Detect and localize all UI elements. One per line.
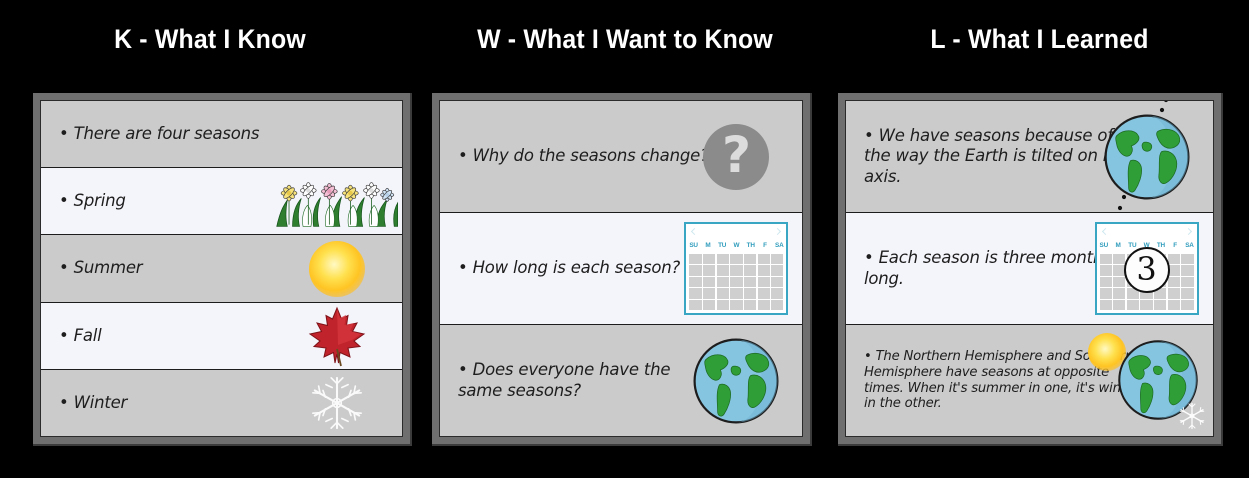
table-row[interactable]: • Winter <box>41 370 402 436</box>
column-title-learned: L - What I Learned <box>847 26 1232 53</box>
column-want-to-know: W - What I Want to Know • Why do the sea… <box>420 0 830 478</box>
calendar-icon: SU M TU W TH F SA <box>684 222 788 315</box>
table-row[interactable]: • We have seasons because of the way the… <box>846 101 1213 213</box>
column-title-want-to-know: W - What I Want to Know <box>436 26 813 53</box>
table-row[interactable]: • Fall <box>41 303 402 370</box>
row-text: • Why do the seasons change? <box>440 146 715 166</box>
calendar-dow: SU <box>686 242 700 249</box>
row-text: • Winter <box>41 393 133 413</box>
maple-leaf-icon <box>307 305 367 367</box>
calendar-dow: TU <box>715 242 729 249</box>
row-text: • We have seasons because of the way the… <box>846 126 1134 186</box>
column-title-know: K - What I Know <box>17 26 403 53</box>
row-artwork <box>275 168 398 234</box>
table-row[interactable]: • Why do the seasons change? ? <box>440 101 802 213</box>
calendar-day-headers: SU M TU W TH F SA <box>686 239 786 252</box>
row-text: • There are four seasons <box>41 124 265 144</box>
chart-table-want-to-know: • Why do the seasons change? ? • How lon… <box>432 93 812 446</box>
table-row[interactable]: • How long is each season? SU M TU W TH … <box>440 213 802 325</box>
calendar-dow: TH <box>744 242 758 249</box>
row-text: • The Northern Hemisphere and Southern H… <box>846 349 1149 412</box>
calendar-navbar <box>686 224 786 239</box>
row-text: • How long is each season? <box>440 258 686 278</box>
row-text: • Does everyone have the same seasons? <box>440 360 725 400</box>
table-row[interactable]: • Does everyone have the same seasons? <box>440 325 802 436</box>
calendar-dow: SA <box>1182 242 1196 249</box>
flowers-icon <box>275 172 398 230</box>
table-row[interactable]: • Summer <box>41 235 402 302</box>
calendar-dow: SA <box>772 242 786 249</box>
row-artwork <box>275 370 398 436</box>
chart-table-learned: • We have seasons because of the way the… <box>838 93 1223 446</box>
calendar-dow: TH <box>1154 242 1168 249</box>
table-row[interactable]: • There are four seasons <box>41 101 402 168</box>
table-row[interactable]: • Spring <box>41 168 402 235</box>
calendar-navbar <box>1097 224 1197 239</box>
column-know: K - What I Know • There are four seasons… <box>0 0 420 478</box>
calendar-dow: M <box>701 242 715 249</box>
calendar-dow: F <box>758 242 772 249</box>
row-artwork <box>275 235 398 301</box>
calendar-dow: F <box>1168 242 1182 249</box>
sun-icon <box>309 241 365 297</box>
column-learned: L - What I Learned • We have seasons bec… <box>830 0 1249 478</box>
row-text: • Fall <box>41 326 108 346</box>
row-artwork <box>275 303 398 369</box>
kwl-chart-board: K - What I Know • There are four seasons… <box>0 0 1249 478</box>
row-text: • Summer <box>41 258 148 278</box>
calendar-grid <box>686 252 786 313</box>
calendar-dow: W <box>1139 242 1153 249</box>
table-row[interactable]: • Each season is three months long. SU M… <box>846 213 1213 325</box>
row-text: • Each season is three months long. <box>846 248 1134 288</box>
table-row[interactable]: • The Northern Hemisphere and Southern H… <box>846 325 1213 436</box>
snowflake-icon <box>308 374 366 432</box>
chart-table-know: • There are four seasons • Spring <box>33 93 412 446</box>
row-artwork: SU M TU W TH F SA <box>675 213 798 324</box>
snowflake-icon <box>1177 401 1207 431</box>
row-text: • Spring <box>41 191 132 211</box>
calendar-dow: W <box>729 242 743 249</box>
